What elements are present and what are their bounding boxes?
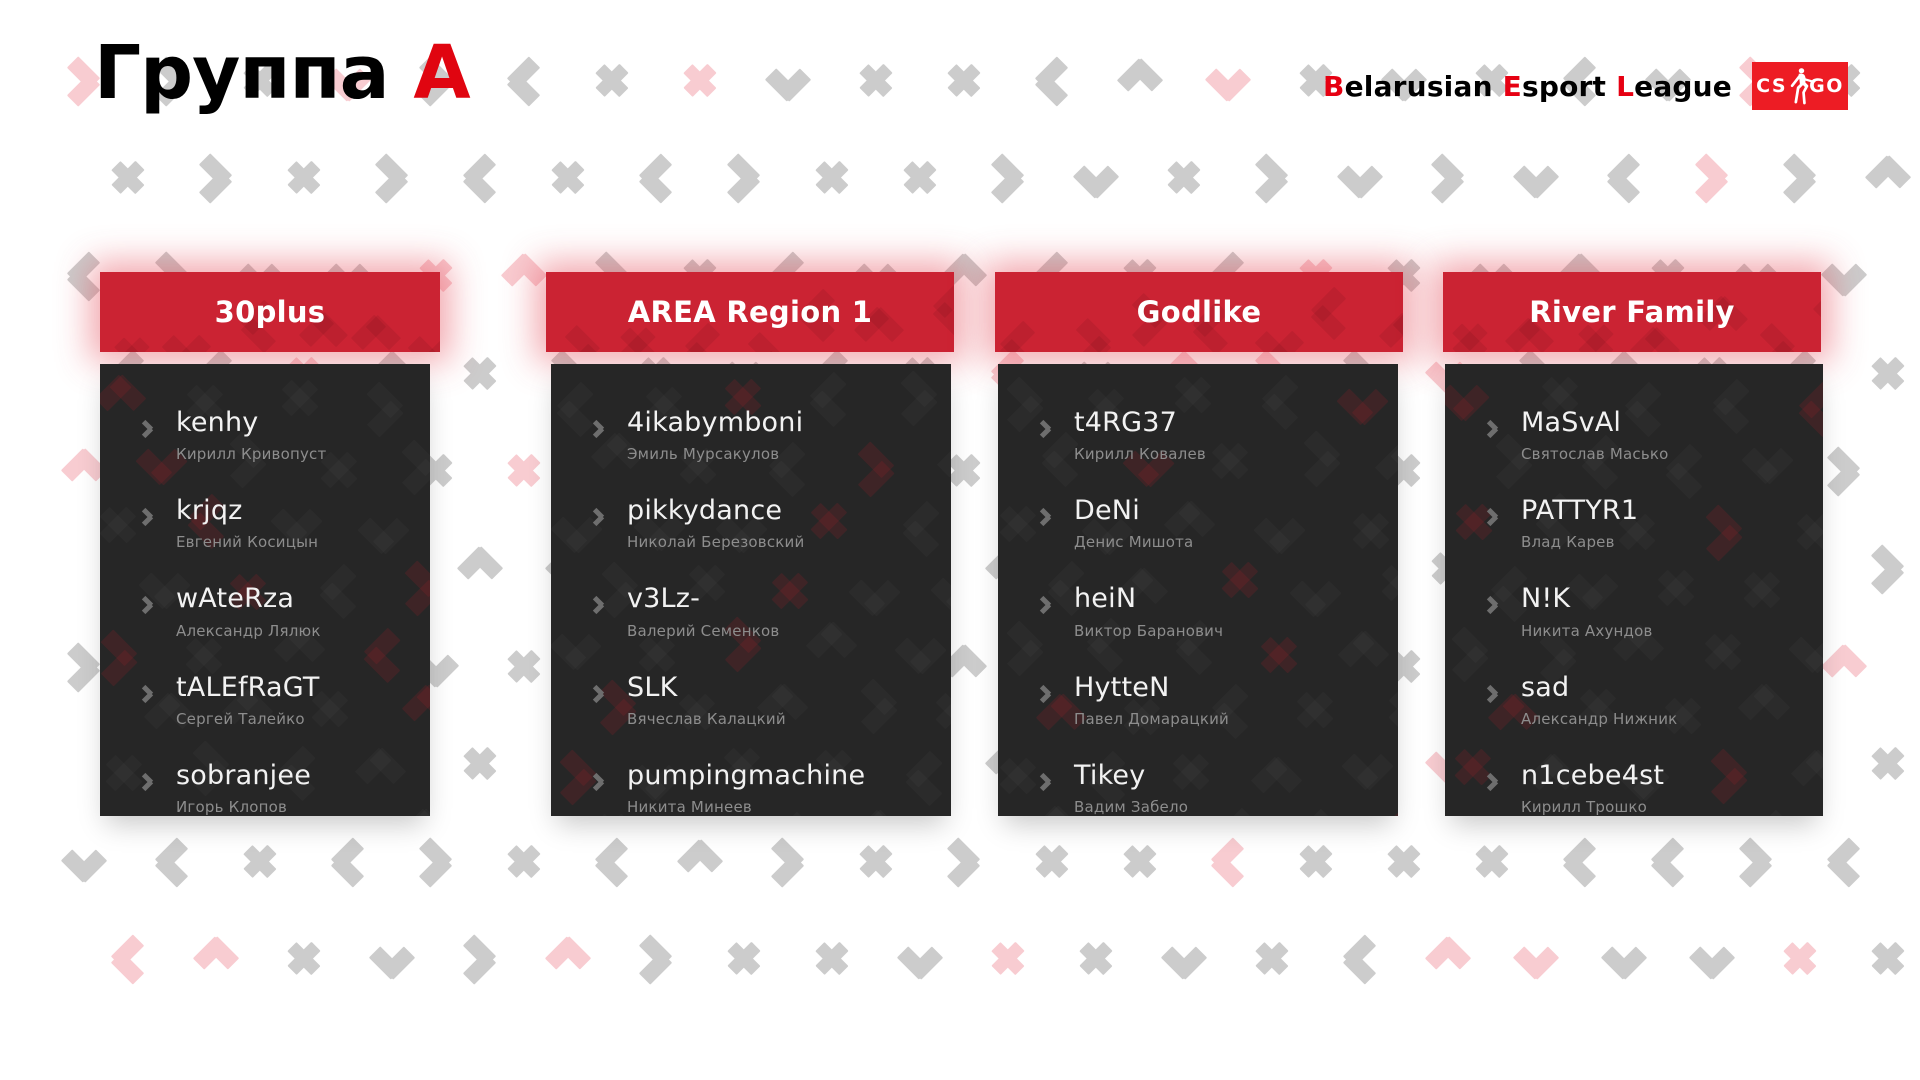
player-nickname: SLK	[627, 673, 786, 703]
team-card: 30plus kenhy Кирилл Кривопуст	[100, 272, 440, 816]
chevron-right-icon	[593, 686, 609, 703]
player-realname: Святослав Масько	[1521, 445, 1669, 463]
chevron-right-icon	[593, 509, 609, 526]
player-realname: Вадим Забело	[1074, 798, 1188, 816]
team-roster: 4ikabymboni Эмиль Мурсакулов pikkydance …	[551, 364, 951, 816]
player-realname: Валерий Семенков	[627, 622, 779, 640]
league-branding: Belarusian Esport League CS GO	[1323, 62, 1848, 110]
page-title: Группа A	[94, 36, 470, 110]
league-word-rest: sport	[1522, 70, 1616, 103]
chevron-right-icon	[142, 421, 158, 438]
player-row: krjqz Евгений Косицын	[100, 496, 430, 551]
player-realname: Денис Мишота	[1074, 533, 1193, 551]
team-card: AREA Region 1 4ikabymboni Эмиль Мурсакул…	[546, 272, 954, 816]
player-realname: Никита Ахундов	[1521, 622, 1653, 640]
player-row: kenhy Кирилл Кривопуст	[100, 408, 430, 463]
player-nickname: DeNi	[1074, 496, 1193, 526]
player-nickname: heiN	[1074, 584, 1223, 614]
player-realname: Николай Березовский	[627, 533, 804, 551]
player-nickname: n1cebe4st	[1521, 761, 1664, 791]
player-nickname: pumpingmachine	[627, 761, 865, 791]
player-names: 4ikabymboni Эмиль Мурсакулов	[627, 408, 803, 463]
player-realname: Александр Лялюк	[176, 622, 321, 640]
chevron-right-icon	[1040, 597, 1056, 614]
player-row: wAteRza Александр Лялюк	[100, 584, 430, 639]
player-realname: Эмиль Мурсакулов	[627, 445, 803, 463]
chevron-right-icon	[593, 597, 609, 614]
player-names: Tikey Вадим Забело	[1074, 761, 1188, 816]
team-cards-container: 30plus kenhy Кирилл Кривопуст	[0, 0, 1920, 1080]
player-realname: Александр Нижник	[1521, 710, 1677, 728]
player-names: heiN Виктор Баранович	[1074, 584, 1223, 639]
league-word-rest: elarusian	[1345, 70, 1503, 103]
chevron-right-icon	[1487, 421, 1503, 438]
player-names: pumpingmachine Никита Минеев	[627, 761, 865, 816]
league-cap-letter: E	[1503, 70, 1522, 103]
player-row: sobranjee Игорь Клопов	[100, 761, 430, 816]
player-names: krjqz Евгений Косицын	[176, 496, 318, 551]
player-names: wAteRza Александр Лялюк	[176, 584, 321, 639]
player-names: sobranjee Игорь Клопов	[176, 761, 311, 816]
player-names: HytteN Павел Домарацкий	[1074, 673, 1229, 728]
page-title-prefix: Группа	[94, 30, 413, 116]
team-header: River Family	[1443, 272, 1821, 352]
player-names: sad Александр Нижник	[1521, 673, 1677, 728]
player-realname: Игорь Клопов	[176, 798, 311, 816]
player-nickname: wAteRza	[176, 584, 321, 614]
team-name: 30plus	[215, 295, 326, 329]
player-row: HytteN Павел Домарацкий	[998, 673, 1398, 728]
player-row: PATTYR1 Влад Карев	[1445, 496, 1823, 551]
player-row: heiN Виктор Баранович	[998, 584, 1398, 639]
player-names: SLK Вячеслав Калацкий	[627, 673, 786, 728]
chevron-right-icon	[1040, 509, 1056, 526]
chevron-right-icon	[142, 509, 158, 526]
team-roster: kenhy Кирилл Кривопуст krjqz Евгений Кос…	[100, 364, 430, 816]
csgo-soldier-icon	[1788, 66, 1816, 106]
player-names: t4RG37 Кирилл Ковалев	[1074, 408, 1206, 463]
player-nickname: kenhy	[176, 408, 326, 438]
player-realname: Влад Карев	[1521, 533, 1638, 551]
chevron-right-icon	[142, 686, 158, 703]
player-nickname: sad	[1521, 673, 1677, 703]
player-nickname: MaSvAl	[1521, 408, 1669, 438]
player-names: N!K Никита Ахундов	[1521, 584, 1653, 639]
player-nickname: PATTYR1	[1521, 496, 1638, 526]
team-header: AREA Region 1	[546, 272, 954, 352]
player-realname: Павел Домарацкий	[1074, 710, 1229, 728]
csgo-logo: CS GO	[1752, 62, 1848, 110]
team-card: River Family MaSvAl Святослав Масько	[1443, 272, 1821, 816]
team-name: River Family	[1529, 295, 1735, 329]
player-row: SLK Вячеслав Калацкий	[551, 673, 951, 728]
team-name: Godlike	[1137, 295, 1262, 329]
csgo-cs-text: CS	[1756, 77, 1787, 96]
chevron-right-icon	[142, 774, 158, 791]
player-realname: Сергей Талейко	[176, 710, 320, 728]
player-row: 4ikabymboni Эмиль Мурсакулов	[551, 408, 951, 463]
player-realname: Виктор Баранович	[1074, 622, 1223, 640]
player-row: n1cebe4st Кирилл Трошко	[1445, 761, 1823, 816]
player-row: pikkydance Николай Березовский	[551, 496, 951, 551]
player-row: t4RG37 Кирилл Ковалев	[998, 408, 1398, 463]
league-cap-letter: B	[1323, 70, 1345, 103]
team-card: Godlike t4RG37 Кирилл Ковалев	[995, 272, 1403, 816]
team-header: 30plus	[100, 272, 440, 352]
player-nickname: tALEfRaGT	[176, 673, 320, 703]
player-row: tALEfRaGT Сергей Талейко	[100, 673, 430, 728]
player-realname: Кирилл Ковалев	[1074, 445, 1206, 463]
player-nickname: v3Lz-	[627, 584, 779, 614]
player-row: pumpingmachine Никита Минеев	[551, 761, 951, 816]
league-word-rest: eague	[1634, 70, 1732, 103]
chevron-right-icon	[593, 421, 609, 438]
player-names: PATTYR1 Влад Карев	[1521, 496, 1638, 551]
player-nickname: N!K	[1521, 584, 1653, 614]
player-realname: Кирилл Трошко	[1521, 798, 1664, 816]
player-nickname: t4RG37	[1074, 408, 1206, 438]
player-names: n1cebe4st Кирилл Трошко	[1521, 761, 1664, 816]
player-names: v3Lz- Валерий Семенков	[627, 584, 779, 639]
player-names: MaSvAl Святослав Масько	[1521, 408, 1669, 463]
player-row: Tikey Вадим Забело	[998, 761, 1398, 816]
chevron-right-icon	[1487, 509, 1503, 526]
team-roster: t4RG37 Кирилл Ковалев DeNi Денис Мишота	[998, 364, 1398, 816]
team-header: Godlike	[995, 272, 1403, 352]
player-row: sad Александр Нижник	[1445, 673, 1823, 728]
player-realname: Кирилл Кривопуст	[176, 445, 326, 463]
league-name: Belarusian Esport League	[1323, 70, 1732, 103]
player-nickname: krjqz	[176, 496, 318, 526]
player-names: pikkydance Николай Березовский	[627, 496, 804, 551]
player-nickname: 4ikabymboni	[627, 408, 803, 438]
page-title-group-letter: A	[413, 30, 469, 116]
chevron-right-icon	[1040, 421, 1056, 438]
player-row: MaSvAl Святослав Масько	[1445, 408, 1823, 463]
player-nickname: sobranjee	[176, 761, 311, 791]
player-realname: Евгений Косицын	[176, 533, 318, 551]
player-nickname: Tikey	[1074, 761, 1188, 791]
player-names: DeNi Денис Мишота	[1074, 496, 1193, 551]
player-names: tALEfRaGT Сергей Талейко	[176, 673, 320, 728]
player-realname: Никита Минеев	[627, 798, 865, 816]
player-row: v3Lz- Валерий Семенков	[551, 584, 951, 639]
team-name: AREA Region 1	[628, 295, 873, 329]
chevron-right-icon	[1040, 686, 1056, 703]
player-nickname: HytteN	[1074, 673, 1229, 703]
league-cap-letter: L	[1616, 70, 1634, 103]
chevron-right-icon	[1040, 774, 1056, 791]
chevron-right-icon	[142, 597, 158, 614]
player-realname: Вячеслав Калацкий	[627, 710, 786, 728]
chevron-right-icon	[593, 774, 609, 791]
player-row: N!K Никита Ахундов	[1445, 584, 1823, 639]
page-header: Группа A Belarusian Esport League CS GO	[0, 0, 1920, 150]
player-nickname: pikkydance	[627, 496, 804, 526]
player-row: DeNi Денис Мишота	[998, 496, 1398, 551]
team-roster: MaSvAl Святослав Масько PATTYR1 Влад Кар…	[1445, 364, 1823, 816]
chevron-right-icon	[1487, 774, 1503, 791]
player-names: kenhy Кирилл Кривопуст	[176, 408, 326, 463]
chevron-right-icon	[1487, 686, 1503, 703]
chevron-right-icon	[1487, 597, 1503, 614]
